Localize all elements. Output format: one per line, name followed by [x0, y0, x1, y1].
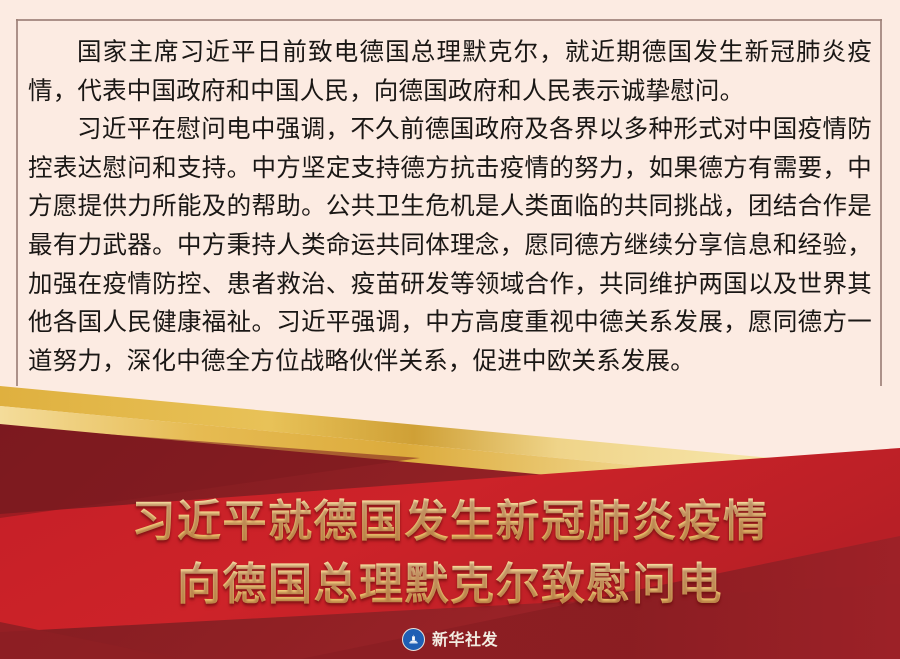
- article-paragraph-1: 国家主席习近平日前致电德国总理默克尔，就近期德国发生新冠肺炎疫情，代表中国政府和…: [28, 34, 872, 111]
- headline-line-2: 向德国总理默克尔致慰问电: [0, 553, 900, 616]
- headline-banner: 习近平就德国发生新冠肺炎疫情 向德国总理默克尔致慰问电 新华社发: [0, 386, 900, 659]
- article-body: 国家主席习近平日前致电德国总理默克尔，就近期德国发生新冠肺炎疫情，代表中国政府和…: [28, 34, 872, 381]
- source-credit: 新华社发: [0, 628, 900, 651]
- news-poster: 国家主席习近平日前致电德国总理默克尔，就近期德国发生新冠肺炎疫情，代表中国政府和…: [0, 0, 900, 659]
- headline-block: 习近平就德国发生新冠肺炎疫情 向德国总理默克尔致慰问电: [0, 490, 900, 616]
- panel-border-left: [16, 19, 18, 418]
- credit-text: 新华社发: [432, 630, 498, 650]
- headline-line-1: 习近平就德国发生新冠肺炎疫情: [0, 490, 900, 553]
- panel-border-right: [880, 19, 882, 418]
- xinhua-emblem-icon: [402, 628, 425, 651]
- article-paragraph-2: 习近平在慰问电中强调，不久前德国政府及各界以多种形式对中国疫情防控表达慰问和支持…: [28, 111, 872, 381]
- article-panel: 国家主席习近平日前致电德国总理默克尔，就近期德国发生新冠肺炎疫情，代表中国政府和…: [0, 0, 900, 418]
- panel-border-top: [16, 19, 882, 21]
